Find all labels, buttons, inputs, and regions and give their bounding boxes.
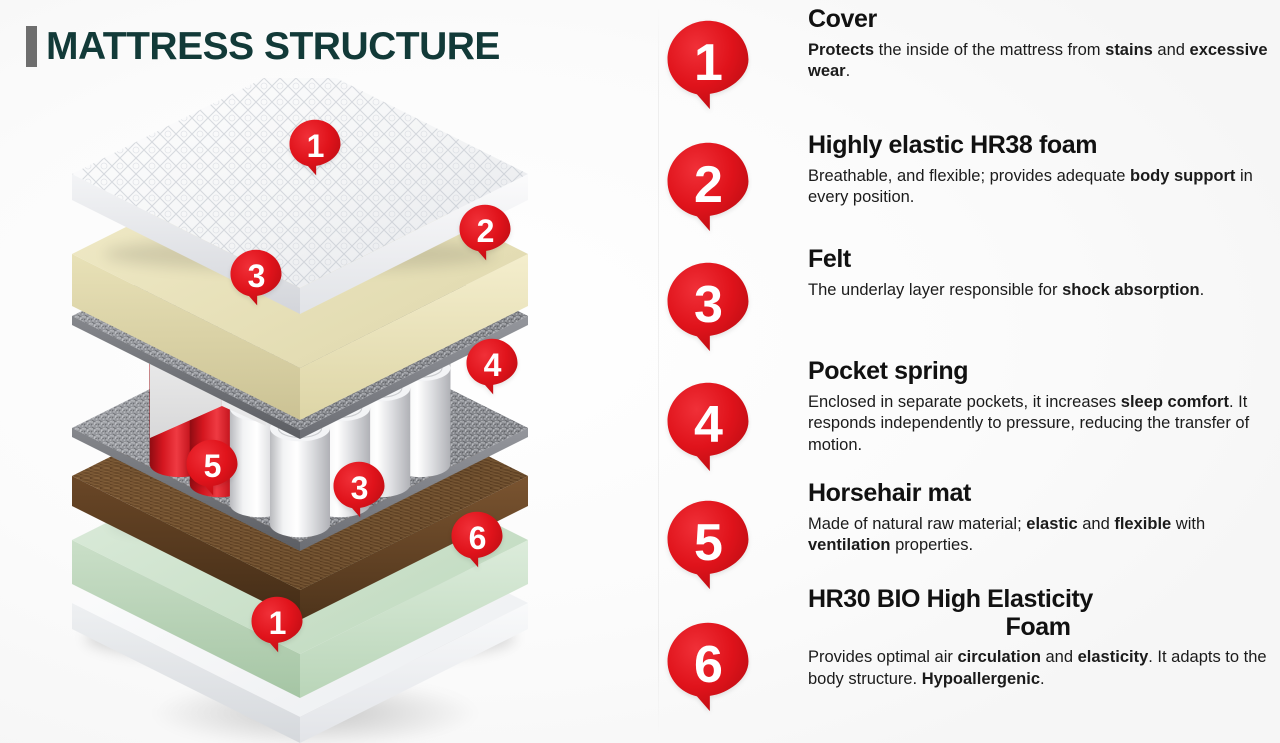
legend-description: Enclosed in separate pockets, it increas… bbox=[808, 392, 1268, 458]
diagram-marker-4[interactable]: 4 bbox=[463, 337, 521, 395]
plain-text: Enclosed in separate pockets, it increas… bbox=[808, 393, 1121, 411]
legend-title-line2: Foam bbox=[808, 614, 1268, 642]
plain-text: and bbox=[1078, 515, 1115, 533]
legend-title: Pocket spring bbox=[808, 358, 1268, 386]
legend-text-block: Highly elastic HR38 foamBreathable, and … bbox=[808, 132, 1268, 209]
emphasis-text: elastic bbox=[1026, 515, 1077, 533]
legend-text-block: Pocket springEnclosed in separate pocket… bbox=[808, 358, 1268, 457]
legend-description: Provides optimal air circulation and ela… bbox=[808, 647, 1268, 691]
legend-text-block: CoverProtects the inside of the mattress… bbox=[808, 6, 1268, 83]
page-title: MATTRESS STRUCTURE bbox=[26, 26, 500, 67]
emphasis-text: ventilation bbox=[808, 536, 891, 554]
marker-number: 3 bbox=[330, 460, 388, 518]
marker-pin-6[interactable]: 6 bbox=[662, 620, 754, 712]
plain-text: Provides optimal air bbox=[808, 648, 957, 666]
legend-title: Highly elastic HR38 foam bbox=[808, 132, 1268, 160]
marker-number: 1 bbox=[662, 18, 754, 110]
diagram-marker-3[interactable]: 3 bbox=[330, 460, 388, 518]
marker-pin-1[interactable]: 1 bbox=[662, 18, 754, 110]
marker-pin-5[interactable]: 5 bbox=[662, 498, 754, 590]
marker-number: 3 bbox=[227, 248, 285, 306]
emphasis-text: elasticity bbox=[1078, 648, 1149, 666]
legend-title: Felt bbox=[808, 246, 1268, 274]
legend-title: HR30 BIO High ElasticityFoam bbox=[808, 586, 1268, 641]
legend-text-block: FeltThe underlay layer responsible for s… bbox=[808, 246, 1268, 301]
marker-number: 3 bbox=[662, 260, 754, 352]
marker-number: 2 bbox=[456, 203, 514, 261]
emphasis-text: Hypoallergenic bbox=[922, 670, 1040, 688]
marker-pin-3[interactable]: 3 bbox=[662, 260, 754, 352]
plain-text: Made of natural raw material; bbox=[808, 515, 1026, 533]
legend-title: Cover bbox=[808, 6, 1268, 34]
plain-text: the inside of the mattress from bbox=[874, 41, 1105, 59]
diagram-marker-2[interactable]: 2 bbox=[456, 203, 514, 261]
marker-pin-2[interactable]: 2 bbox=[662, 140, 754, 232]
legend-column: 1CoverProtects the inside of the mattres… bbox=[640, 0, 1280, 743]
title-accent-bar bbox=[26, 26, 37, 67]
mattress-exploded-svg bbox=[0, 78, 640, 743]
plain-text: . bbox=[1200, 281, 1205, 299]
legend-description: The underlay layer responsible for shock… bbox=[808, 280, 1268, 302]
emphasis-text: flexible bbox=[1114, 515, 1171, 533]
diagram-marker-1[interactable]: 1 bbox=[286, 118, 344, 176]
infographic-page: MATTRESS STRUCTURE 12345361 1CoverProtec… bbox=[0, 0, 1280, 743]
marker-number: 4 bbox=[662, 380, 754, 472]
diagram-marker-1[interactable]: 1 bbox=[248, 595, 306, 653]
marker-number: 4 bbox=[463, 337, 521, 395]
plain-text: and bbox=[1153, 41, 1190, 59]
plain-text: properties. bbox=[891, 536, 974, 554]
title-text: MATTRESS STRUCTURE bbox=[46, 27, 500, 66]
spring-body bbox=[270, 428, 330, 537]
plain-text: Breathable, and flexible; provides adequ… bbox=[808, 167, 1130, 185]
plain-text: . bbox=[846, 62, 851, 80]
marker-number: 2 bbox=[662, 140, 754, 232]
marker-number: 1 bbox=[286, 118, 344, 176]
legend-text-block: HR30 BIO High ElasticityFoamProvides opt… bbox=[808, 586, 1268, 691]
diagram-marker-6[interactable]: 6 bbox=[448, 510, 506, 568]
diagram-marker-5[interactable]: 5 bbox=[183, 438, 241, 496]
legend-description: Protects the inside of the mattress from… bbox=[808, 40, 1268, 84]
emphasis-text: shock absorption bbox=[1062, 281, 1200, 299]
marker-number: 6 bbox=[662, 620, 754, 712]
marker-number: 1 bbox=[248, 595, 306, 653]
plain-text: The underlay layer responsible for bbox=[808, 281, 1062, 299]
plain-text: and bbox=[1041, 648, 1078, 666]
marker-number: 5 bbox=[662, 498, 754, 590]
column-divider bbox=[658, 6, 659, 737]
emphasis-text: sleep comfort bbox=[1121, 393, 1229, 411]
emphasis-text: Protects bbox=[808, 41, 874, 59]
legend-text-block: Horsehair matMade of natural raw materia… bbox=[808, 480, 1268, 557]
mattress-diagram: 12345361 bbox=[0, 78, 640, 743]
marker-number: 5 bbox=[183, 438, 241, 496]
emphasis-text: stains bbox=[1105, 41, 1153, 59]
marker-pin-4[interactable]: 4 bbox=[662, 380, 754, 472]
plain-text: with bbox=[1171, 515, 1205, 533]
legend-title: Horsehair mat bbox=[808, 480, 1268, 508]
legend-description: Made of natural raw material; elastic an… bbox=[808, 514, 1268, 558]
diagram-marker-3[interactable]: 3 bbox=[227, 248, 285, 306]
marker-number: 6 bbox=[448, 510, 506, 568]
plain-text: . bbox=[1040, 670, 1045, 688]
emphasis-text: circulation bbox=[957, 648, 1040, 666]
legend-description: Breathable, and flexible; provides adequ… bbox=[808, 166, 1268, 210]
emphasis-text: body support bbox=[1130, 167, 1235, 185]
